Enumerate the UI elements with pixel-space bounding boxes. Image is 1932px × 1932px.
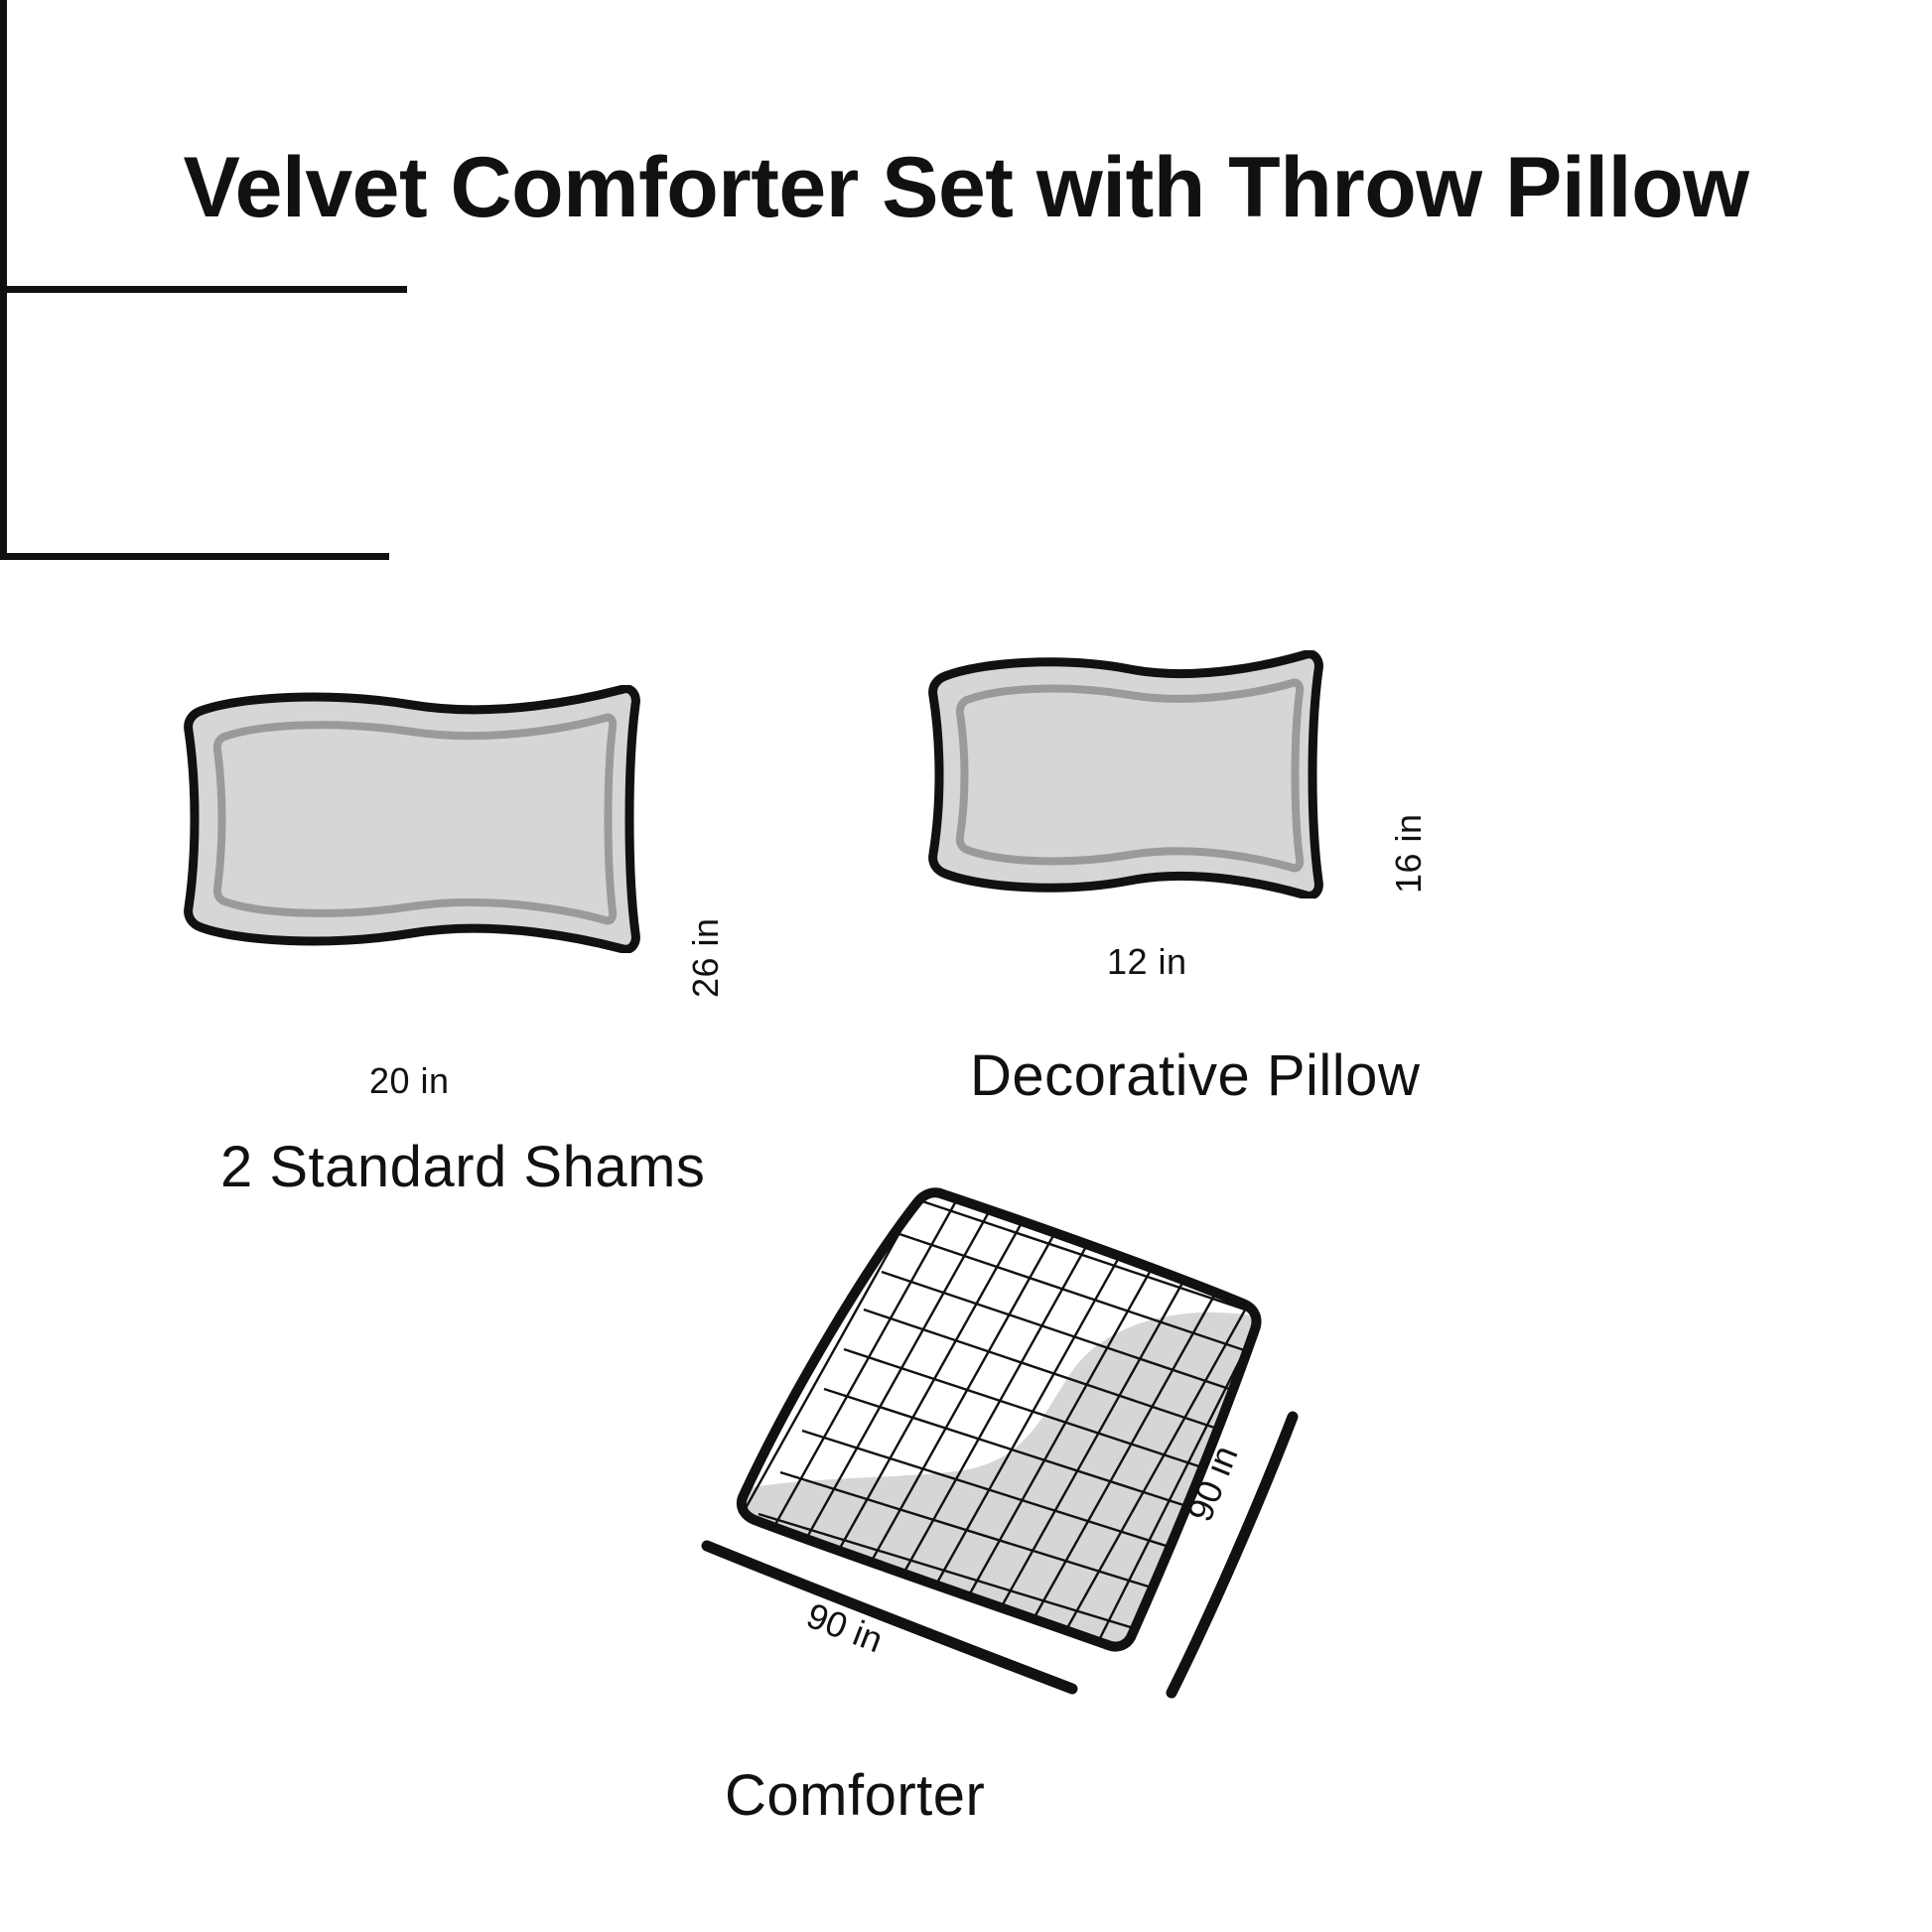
pillow-caption: Decorative Pillow (970, 1042, 1420, 1109)
pillow-width-dimension-line (0, 553, 389, 560)
pillow-height-label: 16 in (1388, 813, 1430, 894)
quilted-comforter-icon: 90 in 90 in (377, 1176, 1430, 1772)
throw-pillow-icon (923, 650, 1328, 898)
comforter-caption: Comforter (725, 1762, 985, 1829)
sham-width-dimension-line (0, 286, 407, 293)
pillow-sham-icon (179, 685, 645, 953)
sham-width-label: 20 in (369, 1060, 450, 1102)
pillow-width-label: 12 in (1107, 941, 1187, 983)
sham-height-label: 26 in (685, 917, 727, 998)
page-title: Velvet Comforter Set with Throw Pillow (0, 139, 1932, 237)
pillow-height-dimension-line (0, 293, 7, 553)
